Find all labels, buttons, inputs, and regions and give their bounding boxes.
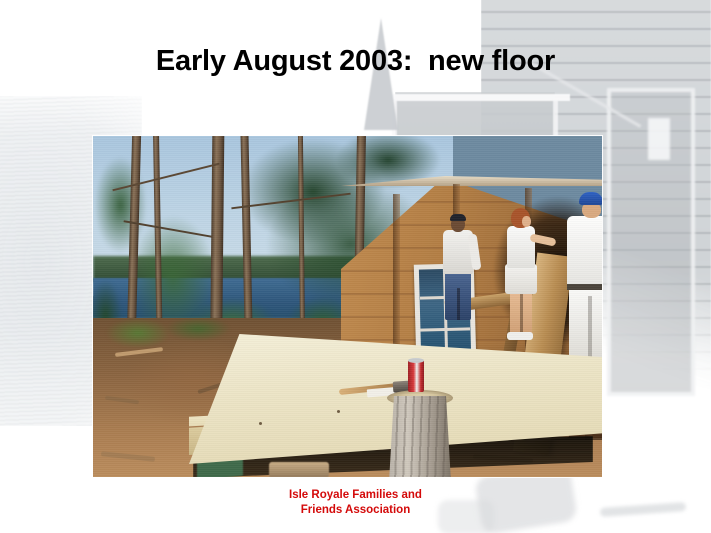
- slide-canvas: Early August 2003: new floor: [0, 0, 711, 533]
- photo-person-3-blue-cap: [579, 192, 602, 205]
- footer-line-1: Isle Royale Families and: [0, 488, 711, 503]
- photo-deck-pier-block: [269, 462, 329, 477]
- footer-caption: Isle Royale Families and Friends Associa…: [0, 488, 711, 518]
- background-outbuilding-eave: [385, 94, 570, 101]
- photo-person-3-shirt: [567, 216, 602, 286]
- photo-tree-stump: [389, 396, 451, 477]
- photo-grass-patch: [93, 312, 243, 354]
- photo-person-2-shoes: [507, 332, 533, 340]
- photo-person-2-leg-gap: [520, 294, 523, 334]
- photo-deck-nail: [259, 422, 262, 425]
- photo-person-3-pants: [569, 288, 602, 360]
- photo-person-2-face: [522, 216, 531, 227]
- slide-title: Early August 2003: new floor: [0, 45, 711, 78]
- background-cabin-door-window: [648, 118, 670, 160]
- main-photograph: [93, 136, 602, 477]
- photo-red-soda-can: [408, 360, 424, 392]
- photo-person-2-shorts: [505, 264, 537, 294]
- photo-person-3-leg-gap: [588, 296, 592, 358]
- photo-person-3-belt: [567, 284, 602, 290]
- footer-line-2: Friends Association: [0, 503, 711, 518]
- photo-person-1-cap: [450, 214, 466, 221]
- photo-soda-can-lid: [408, 358, 424, 363]
- photo-deck-nail: [337, 410, 340, 413]
- photo-person-1-leg-gap: [457, 288, 460, 320]
- photo-person-2-top: [507, 226, 535, 268]
